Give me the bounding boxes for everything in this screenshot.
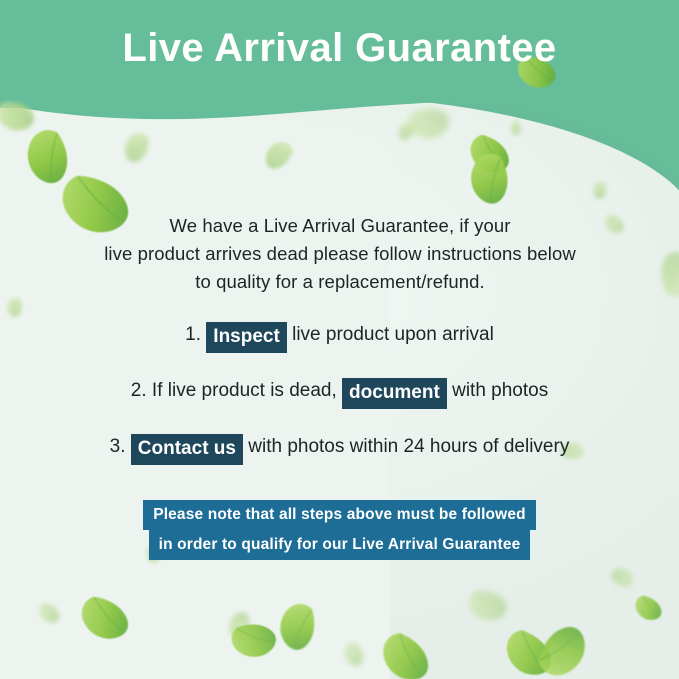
notice-row-2: in order to qualify for our Live Arrival… <box>0 530 679 560</box>
steps-list: 1. Inspect live product upon arrival 2. … <box>0 318 679 464</box>
step-item-3: 3. Contact us with photos within 24 hour… <box>0 430 679 464</box>
intro-line-1: We have a Live Arrival Guarantee, if you… <box>60 212 620 240</box>
step-text-2-before: If live product is dead, <box>152 380 337 401</box>
notice-line-2: in order to qualify for our Live Arrival… <box>149 530 531 560</box>
step-highlight-document: document <box>342 378 447 409</box>
step-highlight-inspect: Inspect <box>206 322 287 353</box>
step-number-2: 2. <box>131 380 147 401</box>
step-number-1: 1. <box>185 324 201 345</box>
step-item-1: 1. Inspect live product upon arrival <box>0 318 679 352</box>
notice-row-1: Please note that all steps above must be… <box>0 500 679 530</box>
step-text-2-after: with photos <box>452 380 548 401</box>
notice-line-1: Please note that all steps above must be… <box>143 500 536 530</box>
intro-line-2: live product arrives dead please follow … <box>60 240 620 268</box>
step-item-2: 2. If live product is dead, document wit… <box>0 374 679 408</box>
step-text-1-after: live product upon arrival <box>292 324 494 345</box>
step-number-3: 3. <box>110 436 126 457</box>
intro-paragraph: We have a Live Arrival Guarantee, if you… <box>60 212 620 296</box>
notice-banner: Please note that all steps above must be… <box>0 500 679 560</box>
step-text-3-after: with photos within 24 hours of delivery <box>248 436 569 457</box>
main-content: We have a Live Arrival Guarantee, if you… <box>0 0 679 679</box>
live-arrival-guarantee-infographic: Live Arrival Guarantee We have a Live Ar… <box>0 0 679 679</box>
intro-line-3: to quality for a replacement/refund. <box>60 268 620 296</box>
step-highlight-contact-us: Contact us <box>131 434 243 465</box>
